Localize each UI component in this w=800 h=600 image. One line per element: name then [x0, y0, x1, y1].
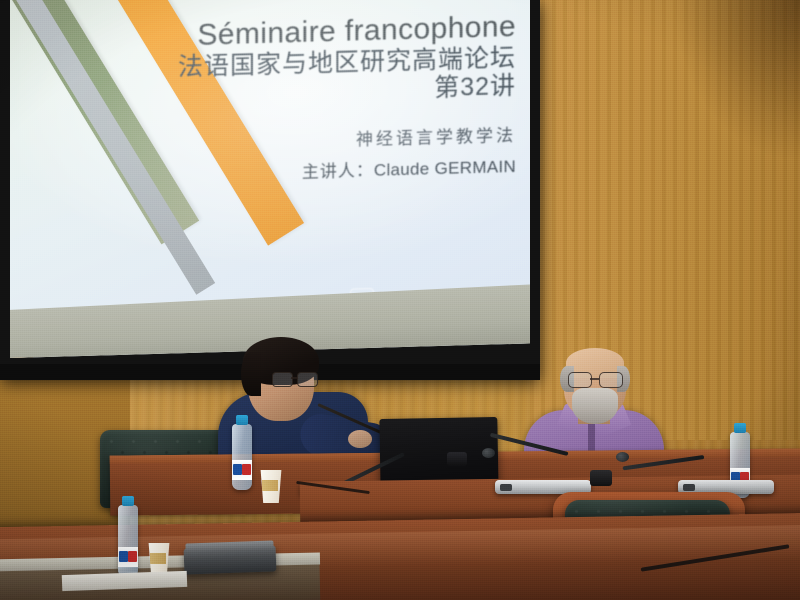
desk-object-speaker — [590, 470, 612, 486]
slide-speaker-name: Claude GERMAIN — [374, 157, 516, 180]
person-speaker-glasses — [568, 372, 622, 386]
presentation-slide: Séminaire francophone 法语国家与地区研究高端论坛 第32讲… — [10, 0, 530, 358]
laptop-front — [184, 545, 277, 574]
water-bottle-front — [118, 505, 138, 577]
slide-speaker-line: 主讲人：Claude GERMAIN — [116, 152, 516, 188]
lecture-hall-photo: Séminaire francophone 法语国家与地区研究高端论坛 第32讲… — [0, 0, 800, 600]
slide-subtitle-topic: 神经语言学教学法 — [116, 121, 516, 157]
microphone-head-speaker — [482, 448, 495, 458]
microphone-head-right — [616, 452, 629, 462]
slide-speaker-label: 主讲人： — [302, 161, 374, 182]
person-moderator-hair-side — [241, 352, 261, 396]
person-moderator-glasses — [272, 372, 316, 385]
projection-screen-frame: Séminaire francophone 法语国家与地区研究高端论坛 第32讲… — [0, 0, 540, 380]
person-speaker-beard — [572, 388, 618, 424]
wall-shadow — [650, 0, 800, 230]
person-moderator-hand — [348, 430, 372, 448]
slide-subtitle-block: 神经语言学教学法 主讲人：Claude GERMAIN — [116, 121, 516, 188]
projection-screen-surface: Séminaire francophone 法语国家与地区研究高端论坛 第32讲… — [10, 0, 530, 358]
water-bottle-back — [232, 424, 252, 490]
slide-text-block: Séminaire francophone 法语国家与地区研究高端论坛 第32讲… — [116, 12, 516, 188]
desk-object-back — [447, 452, 467, 466]
